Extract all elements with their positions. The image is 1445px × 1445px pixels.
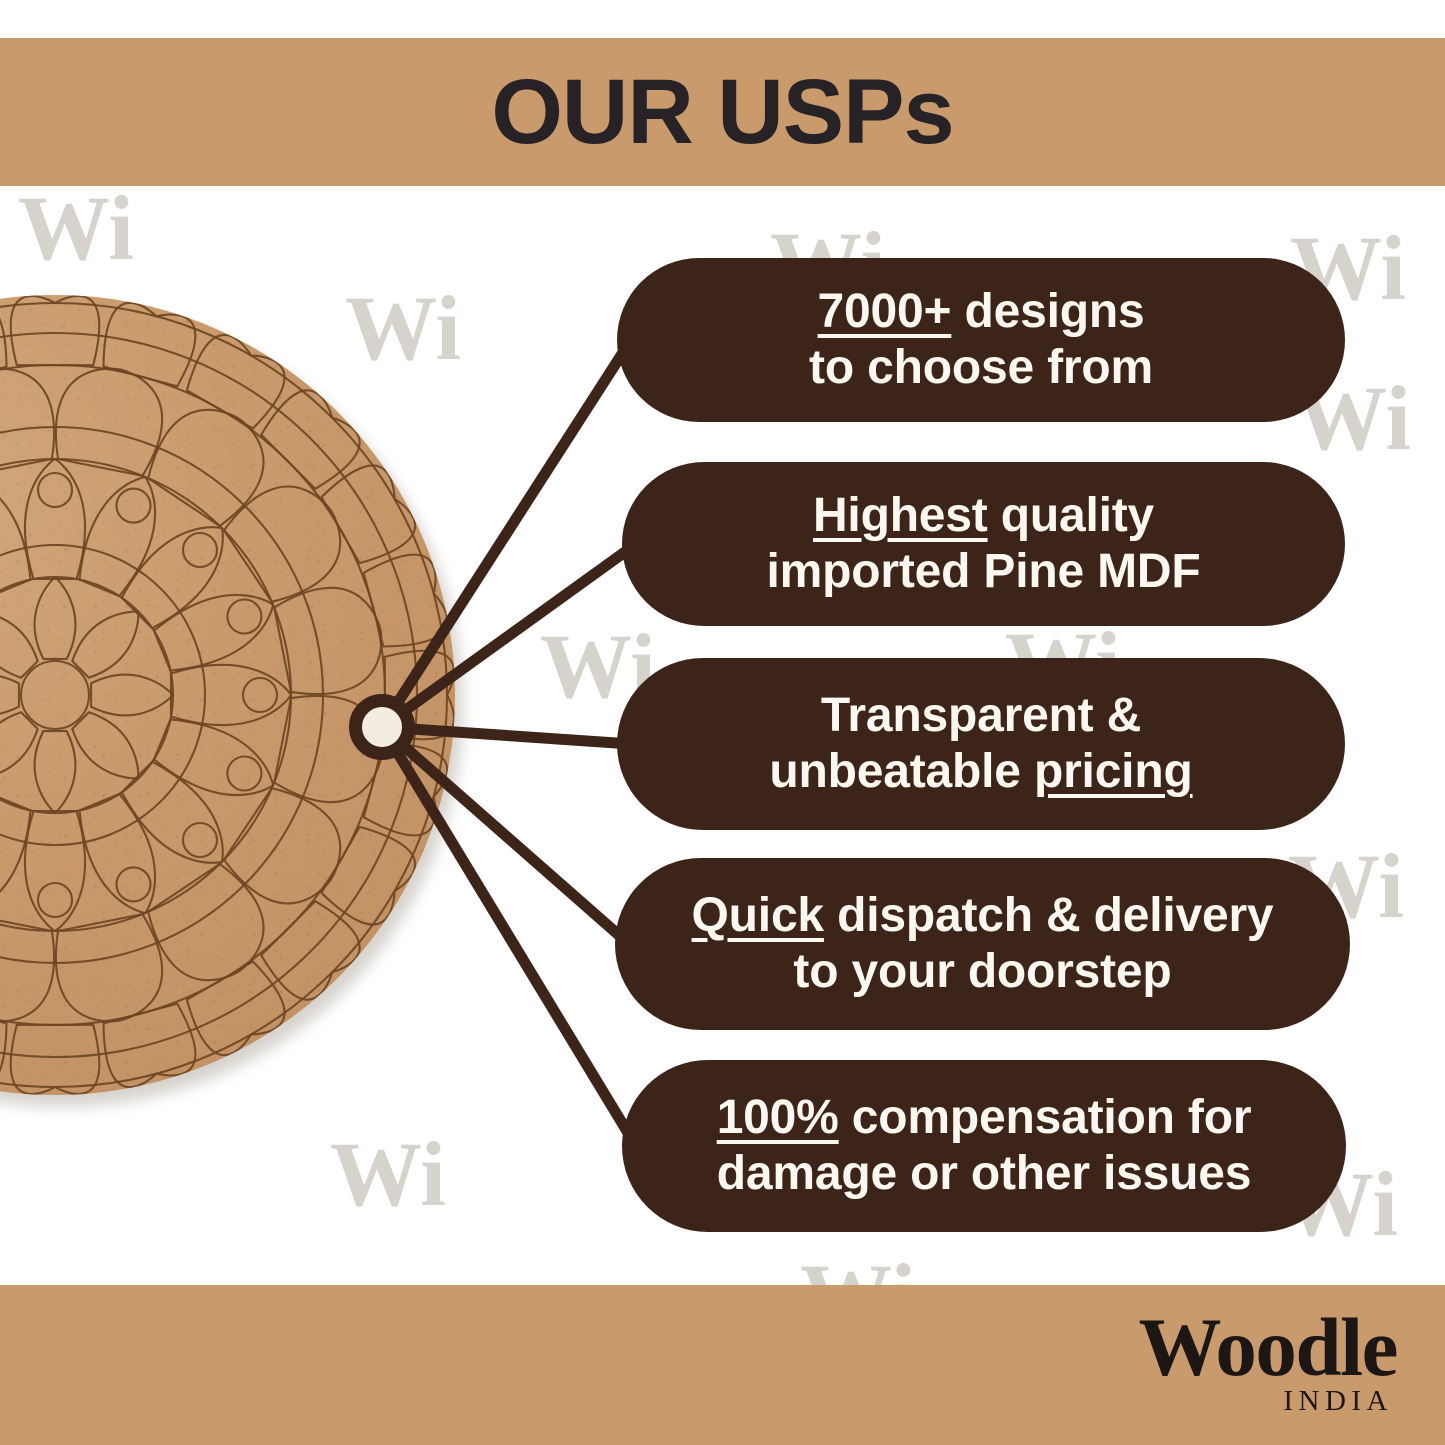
usp-pill-quality[interactable]: Highest qualityimported Pine MDF (622, 462, 1345, 626)
infographic-canvas: WiWiWiWiWiWiWiWiWiWiWi 7000+ designsto c… (0, 0, 1445, 1445)
usp-pill-compensation[interactable]: 100% compensation fordamage or other iss… (622, 1060, 1346, 1232)
usp-pill-designs[interactable]: 7000+ designsto choose from (617, 258, 1345, 422)
usp-highlight: 7000+ (818, 285, 952, 338)
usp-pill-compensation-line2: damage or other issues (717, 1146, 1251, 1202)
usp-pill-compensation-line1: 100% compensation for (717, 1090, 1252, 1146)
usp-pill-pricing-line1: Transparent & (821, 688, 1141, 744)
usp-text: imported Pine MDF (767, 545, 1201, 598)
usp-pill-designs-line1: 7000+ designs (818, 284, 1145, 340)
usp-pill-dispatch[interactable]: Quick dispatch & deliveryto your doorste… (615, 858, 1350, 1030)
brand-logo-subtitle: INDIA (1283, 1385, 1393, 1418)
usp-highlight: 100% (717, 1091, 839, 1144)
usp-pill-quality-line2: imported Pine MDF (767, 544, 1201, 600)
usp-text: damage or other issues (717, 1147, 1251, 1200)
usp-text: to choose from (809, 341, 1153, 394)
usp-highlight: Highest (813, 489, 988, 542)
hub-node (349, 694, 415, 760)
watermark-wi: Wi (18, 182, 134, 274)
usp-text: to your doorstep (793, 945, 1171, 998)
usp-text: Transparent & (821, 689, 1141, 742)
usp-text: quality (988, 489, 1154, 542)
page-title: OUR USPs (0, 38, 1445, 186)
usp-pill-dispatch-line1: Quick dispatch & delivery (692, 888, 1274, 944)
usp-text: dispatch & delivery (824, 889, 1274, 942)
usp-pill-pricing-line2: unbeatable pricing (769, 744, 1192, 800)
usp-pill-designs-line2: to choose from (809, 340, 1153, 396)
usp-text: designs (951, 285, 1144, 338)
usp-text: compensation for (839, 1091, 1252, 1144)
usp-text: unbeatable (769, 745, 1034, 798)
usp-pill-pricing[interactable]: Transparent &unbeatable pricing (617, 658, 1345, 830)
brand-logo: Woodle INDIA (1139, 1308, 1397, 1418)
usp-pill-dispatch-line2: to your doorstep (793, 944, 1171, 1000)
usp-highlight: Quick (692, 889, 824, 942)
usp-pill-quality-line1: Highest quality (813, 488, 1154, 544)
brand-logo-wordmark: Woodle (1139, 1308, 1397, 1387)
usp-highlight: pricing (1034, 745, 1193, 798)
